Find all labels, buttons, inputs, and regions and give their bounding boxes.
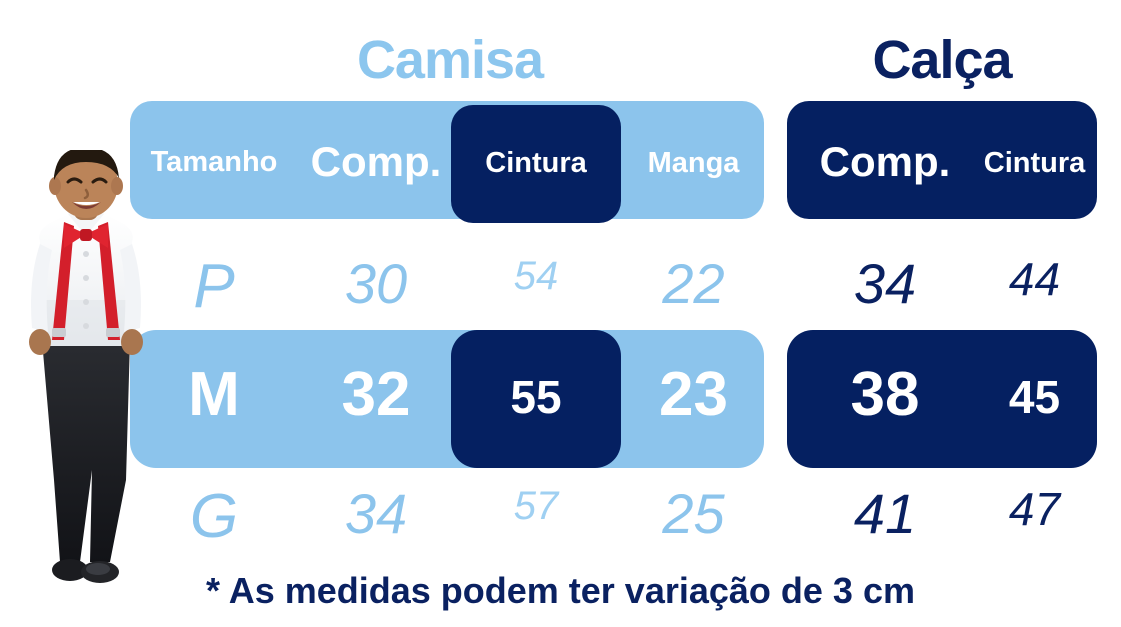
cell-camisa-cintura: 54	[451, 256, 621, 296]
cell-calca-cintura: 45	[972, 374, 1097, 420]
cell-camisa-manga: 25	[621, 486, 766, 542]
cell-camisa-comp: 34	[296, 486, 456, 542]
column-header-camisa-manga: Manga	[621, 149, 766, 178]
size-chart-canvas: Camisa Calça Tamanho Comp. Cintura Manga…	[0, 0, 1121, 627]
cell-camisa-manga: 22	[621, 256, 766, 312]
cell-camisa-cintura: 55	[451, 374, 621, 420]
cell-camisa-cintura: 57	[451, 486, 621, 526]
cell-camisa-comp: 32	[296, 364, 456, 426]
child-model-photo	[6, 150, 176, 590]
column-header-calca-cintura: Cintura	[972, 149, 1097, 178]
cell-calca-comp: 38	[795, 364, 975, 426]
column-header-calca-comp: Comp.	[795, 141, 975, 183]
column-header-camisa-cintura: Cintura	[451, 149, 621, 178]
cell-camisa-manga: 23	[621, 364, 766, 426]
cell-calca-comp: 34	[795, 256, 975, 312]
section-title-camisa: Camisa	[0, 33, 900, 87]
cell-calca-cintura: 47	[972, 486, 1097, 532]
cell-calca-cintura: 44	[972, 256, 1097, 302]
cell-calca-comp: 41	[795, 486, 975, 542]
column-header-camisa-comp: Comp.	[296, 141, 456, 183]
section-title-calca: Calça	[787, 33, 1097, 87]
cell-camisa-comp: 30	[296, 256, 456, 312]
